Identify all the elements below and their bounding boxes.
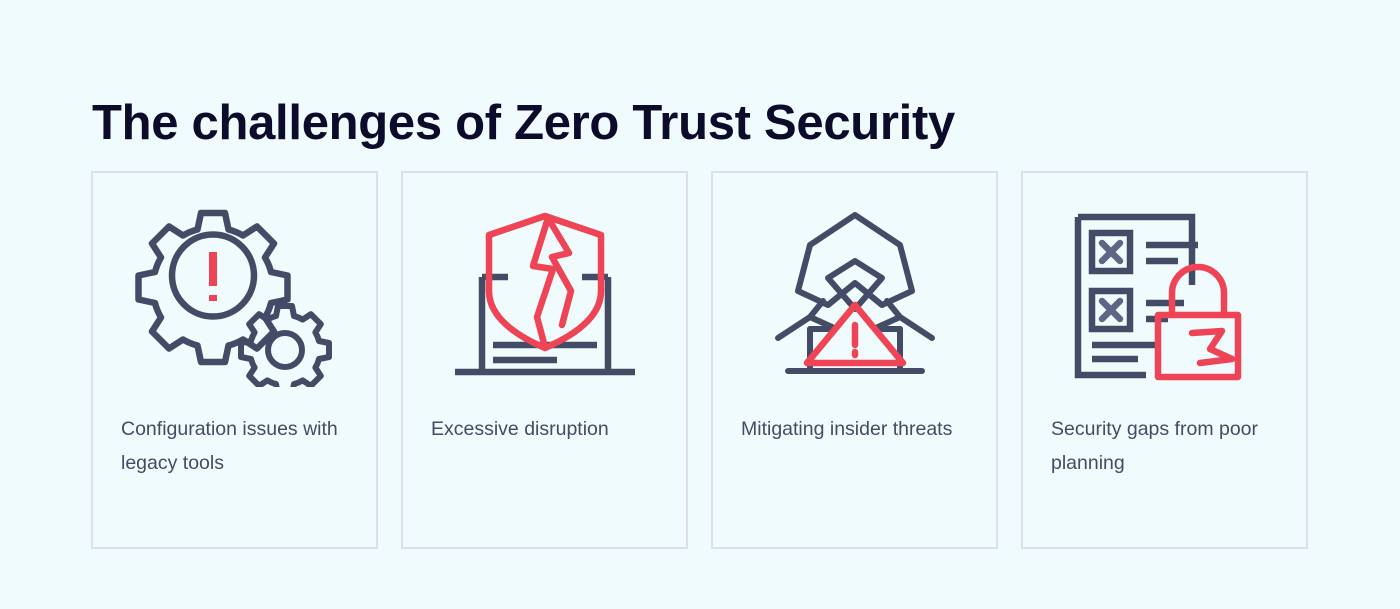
card-label: Configuration issues with legacy tools [93,413,376,480]
challenge-card-grid: Configuration issues with legacy tools [91,171,1311,549]
challenge-card[interactable]: Security gaps from poor planning [1021,171,1308,549]
card-label: Mitigating insider threats [713,413,996,447]
challenge-card[interactable]: Mitigating insider threats [711,171,998,549]
challenge-card[interactable]: Excessive disruption [401,171,688,549]
laptop-broken-shield-icon [403,173,686,413]
challenge-card[interactable]: Configuration issues with legacy tools [91,171,378,549]
card-label: Excessive disruption [403,413,686,447]
checklist-broken-lock-icon [1023,173,1306,413]
gears-warning-icon [93,173,376,413]
card-label: Security gaps from poor planning [1023,413,1306,480]
page-title: The challenges of Zero Trust Security [92,95,955,151]
hooded-figure-laptop-warning-icon [713,173,996,413]
infographic-page: The challenges of Zero Trust Security [0,0,1400,609]
